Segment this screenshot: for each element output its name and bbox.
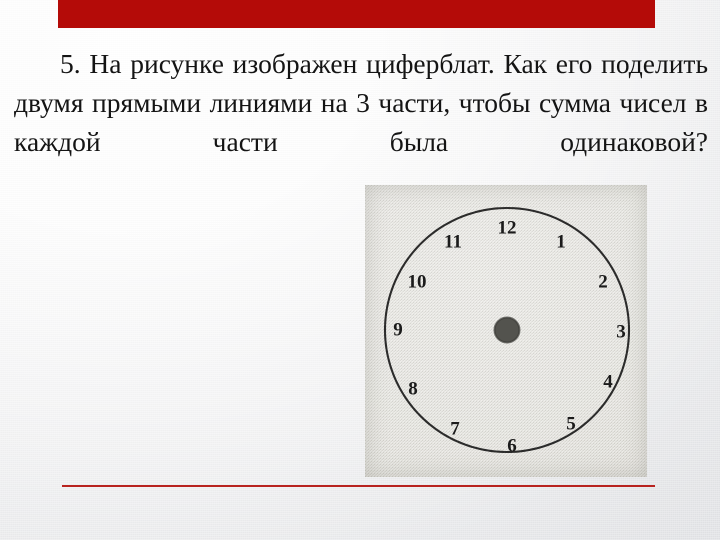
clock-numeral-9: 9 xyxy=(393,319,403,340)
clock-numeral-1: 1 xyxy=(556,231,566,252)
clock-face-figure: 12 1 2 3 4 5 6 7 8 9 10 11 xyxy=(365,185,647,477)
clock-numeral-11: 11 xyxy=(444,231,462,252)
clock-numeral-2: 2 xyxy=(598,271,608,292)
clock-numeral-5: 5 xyxy=(566,413,576,434)
clock-numeral-12: 12 xyxy=(498,217,517,238)
clock-numeral-8: 8 xyxy=(408,378,418,399)
question-text: 5. На рисунке изображен циферблат. Как е… xyxy=(14,44,708,200)
top-red-banner xyxy=(58,0,655,28)
clock-numeral-7: 7 xyxy=(450,418,460,439)
bottom-red-rule xyxy=(62,485,655,487)
clock-numeral-3: 3 xyxy=(616,321,626,342)
slide-canvas: 5. На рисунке изображен циферблат. Как е… xyxy=(0,0,720,540)
clock-numeral-4: 4 xyxy=(603,371,613,392)
clock-numeral-10: 10 xyxy=(408,271,427,292)
clock-numeral-6: 6 xyxy=(507,435,517,456)
